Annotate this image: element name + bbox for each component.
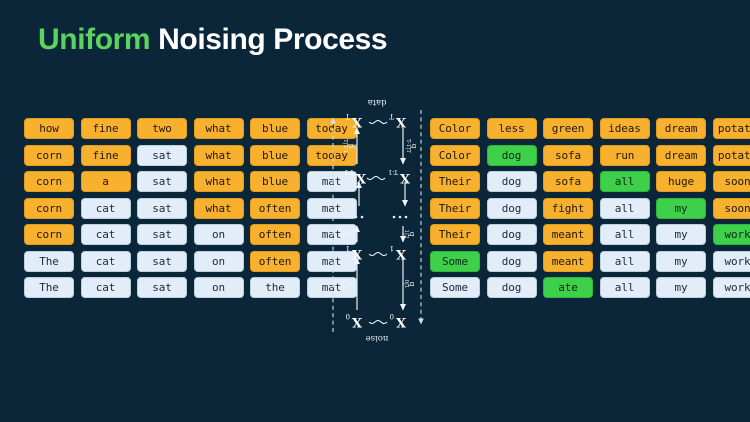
right-word-grid: ColorlessgreenideasdreampotatoColordogso… — [430, 118, 750, 298]
table-row: Somedogmeantallmywork — [430, 251, 750, 272]
right-token-cell[interactable]: dog — [487, 171, 537, 192]
right-token-cell[interactable]: dream — [656, 145, 706, 166]
svg-text:X: X — [355, 170, 366, 185]
svg-text:T-1: T-1 — [388, 168, 398, 176]
table-row: Theirdogfightallmysoon — [430, 198, 750, 219]
left-token-cell[interactable]: corn — [24, 171, 74, 192]
left-token-cell[interactable]: sat — [137, 145, 187, 166]
right-token-cell[interactable]: Their — [430, 171, 480, 192]
left-token-cell[interactable]: fine — [81, 145, 131, 166]
table-row: cornasatwhatbluemat — [24, 171, 357, 192]
right-token-cell[interactable]: potato — [713, 145, 750, 166]
table-row: corncatsatwhatoftenmat — [24, 198, 357, 219]
left-token-cell[interactable]: what — [194, 198, 244, 219]
left-token-cell[interactable]: what — [194, 171, 244, 192]
right-token-cell[interactable]: dog — [487, 277, 537, 298]
right-token-cell[interactable]: less — [487, 118, 537, 139]
right-token-cell[interactable]: my — [656, 251, 706, 272]
svg-text:T: T — [345, 112, 350, 120]
left-token-cell[interactable]: cat — [81, 198, 131, 219]
right-token-cell[interactable]: ideas — [600, 118, 650, 139]
right-token-cell[interactable]: dog — [487, 198, 537, 219]
right-token-cell[interactable]: dream — [656, 118, 706, 139]
svg-text:X: X — [395, 246, 406, 261]
left-token-cell[interactable]: on — [194, 224, 244, 245]
left-token-cell[interactable]: sat — [137, 198, 187, 219]
right-token-cell[interactable]: my — [656, 224, 706, 245]
reverse-transition-arrows — [357, 128, 359, 310]
svg-text:0: 0 — [390, 312, 394, 320]
svg-text:X: X — [395, 314, 406, 329]
left-token-cell[interactable]: often — [250, 251, 300, 272]
left-token-cell[interactable]: sat — [137, 251, 187, 272]
right-token-cell[interactable]: meant — [543, 251, 593, 272]
table-row: Thecatsatonoftenmat — [24, 251, 357, 272]
right-token-cell[interactable]: dog — [487, 251, 537, 272]
left-token-cell[interactable]: sat — [137, 171, 187, 192]
left-token-cell[interactable]: blue — [250, 118, 300, 139]
left-token-cell[interactable]: a — [81, 171, 131, 192]
right-token-cell[interactable]: soon — [713, 171, 750, 192]
svg-text:T: T — [389, 112, 394, 120]
right-token-cell[interactable]: soon — [713, 198, 750, 219]
right-token-cell[interactable]: fight — [543, 198, 593, 219]
noise-caption: noise — [366, 333, 389, 343]
left-token-cell[interactable]: cat — [81, 251, 131, 272]
right-token-cell[interactable]: dog — [487, 145, 537, 166]
node-row-x0: X 0 X 0 — [346, 312, 407, 329]
left-token-cell[interactable]: The — [24, 277, 74, 298]
right-token-cell[interactable]: work — [713, 224, 750, 245]
ellipsis-row — [349, 216, 408, 219]
svg-text:θ: θ — [351, 144, 357, 147]
left-token-cell[interactable]: often — [250, 198, 300, 219]
left-token-cell[interactable]: blue — [250, 171, 300, 192]
svg-text:1|2: 1|2 — [403, 229, 409, 238]
table-row: Colordogsofarundreampotato — [430, 145, 750, 166]
left-token-cell[interactable]: fine — [81, 118, 131, 139]
left-token-cell[interactable]: often — [250, 224, 300, 245]
left-token-cell[interactable]: The — [24, 251, 74, 272]
right-token-cell[interactable]: my — [656, 277, 706, 298]
node-row-xt: X T X T — [345, 112, 406, 129]
data-caption: data — [368, 97, 387, 107]
left-token-cell[interactable]: sat — [137, 277, 187, 298]
left-token-cell[interactable]: corn — [24, 145, 74, 166]
right-token-cell[interactable]: sofa — [543, 145, 593, 166]
left-token-cell[interactable]: two — [137, 118, 187, 139]
right-token-cell[interactable]: sofa — [543, 171, 593, 192]
node-row-x1: X 1 X 1 — [346, 244, 407, 261]
svg-text:T-1|T: T-1|T — [405, 139, 411, 153]
right-token-cell[interactable]: run — [600, 145, 650, 166]
left-token-cell[interactable]: corn — [24, 224, 74, 245]
right-token-cell[interactable]: my — [656, 198, 706, 219]
left-token-cell[interactable]: on — [194, 251, 244, 272]
table-row: Somedogateallmywork — [430, 277, 750, 298]
svg-text:X: X — [351, 114, 362, 129]
right-token-cell[interactable]: work — [713, 251, 750, 272]
table-row: Thecatsatonthemat — [24, 277, 357, 298]
svg-text:θ: θ — [349, 232, 355, 235]
right-token-cell[interactable]: Some — [430, 277, 480, 298]
right-token-cell[interactable]: ate — [543, 277, 593, 298]
right-token-cell[interactable]: huge — [656, 171, 706, 192]
left-word-grid: howfinetwowhatbluetodaycornfinesatwhatbl… — [24, 118, 357, 298]
left-token-cell[interactable]: how — [24, 118, 74, 139]
table-row: corncatsatonoftenmat — [24, 224, 357, 245]
left-token-cell[interactable]: sat — [137, 224, 187, 245]
table-row: howfinetwowhatbluetoday — [24, 118, 357, 139]
title-accent-word: Uniform — [38, 23, 150, 56]
left-token-cell[interactable]: what — [194, 145, 244, 166]
left-token-cell[interactable]: cat — [81, 277, 131, 298]
page-title: Uniform Noising Process — [38, 23, 387, 58]
svg-text:T-1: T-1 — [344, 168, 354, 176]
left-token-cell[interactable]: on — [194, 277, 244, 298]
table-row: Theirdogmeantallmywork — [430, 224, 750, 245]
right-token-cell[interactable]: Color — [430, 145, 480, 166]
svg-text:0|1: 0|1 — [403, 279, 409, 288]
table-row: Theirdogsofaallhugesoon — [430, 171, 750, 192]
left-token-cell[interactable]: corn — [24, 198, 74, 219]
node-row-xtm1: X T-1 X T-1 — [344, 168, 410, 185]
right-token-cell[interactable]: green — [543, 118, 593, 139]
slide-canvas: Uniform Noising Process howfinetwowhatbl… — [0, 0, 750, 422]
left-token-cell[interactable]: cat — [81, 224, 131, 245]
svg-text:2|1: 2|1 — [340, 229, 346, 238]
markov-chain-diagram: X 0 X 0 X 1 X 1 X T-1 — [327, 96, 427, 346]
svg-text:X: X — [395, 114, 406, 129]
left-token-cell[interactable]: blue — [250, 145, 300, 166]
svg-text:1: 1 — [346, 244, 350, 252]
right-token-cell[interactable]: work — [713, 277, 750, 298]
right-token-cell[interactable]: all — [600, 171, 650, 192]
table-row: Colorlessgreenideasdreampotato — [430, 118, 750, 139]
right-token-cell[interactable]: all — [600, 251, 650, 272]
table-row: cornfinesatwhatbluetoday — [24, 145, 357, 166]
right-token-cell[interactable]: all — [600, 224, 650, 245]
svg-text:1|0: 1|0 — [340, 279, 346, 288]
right-token-cell[interactable]: Color — [430, 118, 480, 139]
svg-text:θ: θ — [349, 282, 355, 285]
left-token-cell[interactable]: the — [250, 277, 300, 298]
right-token-cell[interactable]: meant — [543, 224, 593, 245]
right-token-cell[interactable]: all — [600, 277, 650, 298]
right-token-cell[interactable]: Some — [430, 251, 480, 272]
right-token-cell[interactable]: potato — [713, 118, 750, 139]
svg-text:0: 0 — [346, 312, 350, 320]
right-token-cell[interactable]: all — [600, 198, 650, 219]
right-token-cell[interactable]: Their — [430, 224, 480, 245]
title-plain-words: Noising Process — [158, 23, 387, 56]
left-token-cell[interactable]: what — [194, 118, 244, 139]
svg-text:1: 1 — [390, 244, 394, 252]
right-token-cell[interactable]: dog — [487, 224, 537, 245]
svg-text:T|T-1: T|T-1 — [342, 139, 348, 153]
svg-text:X: X — [351, 314, 362, 329]
right-token-cell[interactable]: Their — [430, 198, 480, 219]
